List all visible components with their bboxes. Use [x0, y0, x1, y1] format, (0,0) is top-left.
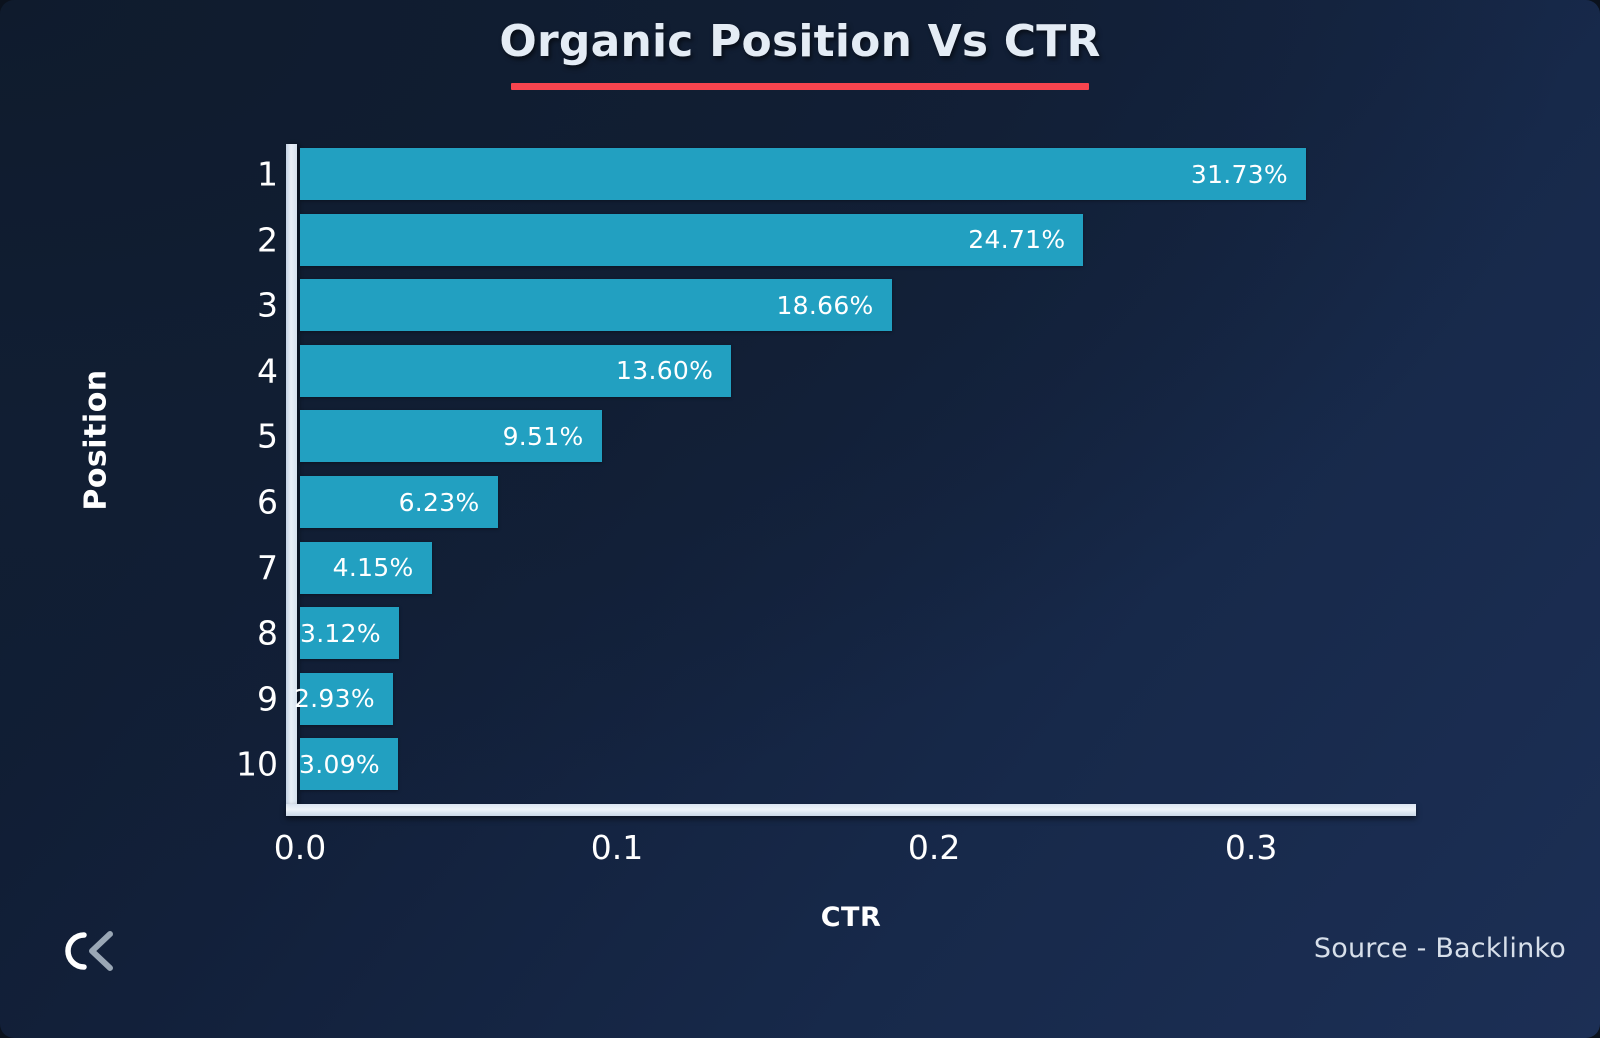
y-axis-tick-label: 7	[196, 548, 278, 587]
x-axis-spine	[286, 804, 1416, 816]
bar[interactable]: 18.66%	[300, 279, 892, 331]
bar-row: 9.51%	[300, 410, 1416, 462]
bar-value-label: 18.66%	[776, 291, 873, 320]
x-axis-tick-label: 0.0	[274, 828, 326, 867]
x-axis-tick-label: 0.3	[1225, 828, 1277, 867]
page-title: Organic Position Vs CTR	[0, 14, 1600, 69]
x-axis-tick-label: 0.1	[591, 828, 643, 867]
bar-row: 3.12%	[300, 607, 1416, 659]
bar[interactable]: 24.71%	[300, 214, 1083, 266]
bar-row: 4.15%	[300, 542, 1416, 594]
bar[interactable]: 31.73%	[300, 148, 1306, 200]
plot-area: 31.73%24.71%18.66%13.60%9.51%6.23%4.15%3…	[286, 144, 1416, 816]
bar[interactable]: 13.60%	[300, 345, 731, 397]
y-axis-tick-label: 4	[196, 351, 278, 390]
source-note: Source - Backlinko	[1314, 933, 1566, 964]
y-axis-tick-label: 1	[196, 155, 278, 194]
y-axis-tick-label: 8	[196, 614, 278, 653]
bar[interactable]: 6.23%	[300, 476, 498, 528]
y-axis-title: Position	[79, 369, 114, 510]
y-axis-tick-label: 3	[196, 286, 278, 325]
bar-row: 24.71%	[300, 214, 1416, 266]
bar-row: 3.09%	[300, 738, 1416, 790]
title-block: Organic Position Vs CTR	[0, 14, 1600, 90]
bar-row: 18.66%	[300, 279, 1416, 331]
bar-value-label: 13.60%	[616, 356, 713, 385]
y-axis-tick-label: 5	[196, 417, 278, 456]
y-axis-tick-labels: 12345678910	[196, 144, 278, 806]
bar-value-label: 31.73%	[1191, 160, 1288, 189]
x-axis-tick-label: 0.2	[908, 828, 960, 867]
bar[interactable]: 9.51%	[300, 410, 602, 462]
bar-value-label: 24.71%	[968, 225, 1065, 254]
bar-series: 31.73%24.71%18.66%13.60%9.51%6.23%4.15%3…	[300, 148, 1416, 804]
bar-row: 6.23%	[300, 476, 1416, 528]
title-underline	[511, 83, 1089, 90]
y-axis-tick-label: 9	[196, 679, 278, 718]
bar-value-label: 2.93%	[294, 684, 375, 713]
bar[interactable]: 2.93%	[300, 673, 393, 725]
y-axis-tick-label: 2	[196, 220, 278, 259]
chart-canvas: Organic Position Vs CTR Position 1234567…	[0, 0, 1600, 1038]
bar-value-label: 3.12%	[300, 619, 381, 648]
y-axis-tick-label: 10	[196, 745, 278, 784]
bar-row: 31.73%	[300, 148, 1416, 200]
bar-row: 13.60%	[300, 345, 1416, 397]
bar[interactable]: 3.09%	[300, 738, 398, 790]
bar-value-label: 3.09%	[299, 750, 380, 779]
x-axis-tick-labels: 0.00.10.20.3	[286, 828, 1416, 880]
bar-value-label: 6.23%	[399, 488, 480, 517]
bar[interactable]: 3.12%	[300, 607, 399, 659]
y-axis-tick-label: 6	[196, 483, 278, 522]
bar[interactable]: 4.15%	[300, 542, 432, 594]
x-axis-title: CTR	[286, 902, 1416, 933]
bar-row: 2.93%	[300, 673, 1416, 725]
bar-value-label: 9.51%	[503, 422, 584, 451]
ck-logo-icon	[52, 926, 128, 976]
bar-value-label: 4.15%	[333, 553, 414, 582]
